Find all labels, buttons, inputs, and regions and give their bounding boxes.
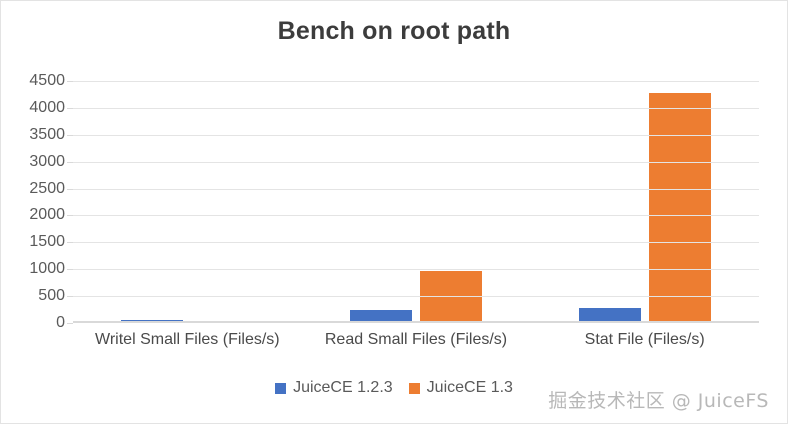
x-axis-tick-label: Read Small Files (Files/s)	[325, 331, 507, 349]
y-axis-tick	[67, 323, 73, 324]
legend-label: JuiceCE 1.3	[427, 379, 513, 397]
bar-group	[73, 81, 302, 323]
x-axis-line	[73, 321, 759, 323]
gridline	[73, 81, 759, 82]
gridline	[73, 269, 759, 270]
gridline	[73, 296, 759, 297]
x-axis-tick-label: Writel Small Files (Files/s)	[95, 331, 280, 349]
y-axis-tick-label: 2000	[29, 206, 65, 224]
chart-title: Bench on root path	[1, 17, 787, 46]
gridline	[73, 135, 759, 136]
y-axis-tick-label: 1500	[29, 233, 65, 251]
y-axis-tick-label: 0	[56, 314, 65, 332]
gridline	[73, 215, 759, 216]
bars-layer	[73, 81, 759, 323]
plot-area	[73, 81, 759, 323]
y-axis-tick-label: 2500	[29, 180, 65, 198]
y-axis-tick-label: 3000	[29, 153, 65, 171]
gridline	[73, 162, 759, 163]
gridline	[73, 189, 759, 190]
legend-swatch-icon	[275, 383, 286, 394]
legend-item[interactable]: JuiceCE 1.3	[409, 379, 513, 397]
gridline	[73, 242, 759, 243]
legend-item[interactable]: JuiceCE 1.2.3	[275, 379, 393, 397]
x-axis-tick-label: Stat File (Files/s)	[585, 331, 705, 349]
y-axis-tick-label: 1000	[29, 260, 65, 278]
y-axis-tick-label: 4500	[29, 72, 65, 90]
bar-group	[530, 81, 759, 323]
legend-swatch-icon	[409, 383, 420, 394]
gridline	[73, 108, 759, 109]
watermark-text: 掘金技术社区 @ JuiceFS	[548, 386, 769, 413]
y-axis-tick-label: 4000	[29, 99, 65, 117]
y-axis: 050010001500200025003000350040004500	[1, 81, 65, 323]
legend-label: JuiceCE 1.2.3	[293, 379, 393, 397]
chart-container: Bench on root path 050010001500200025003…	[0, 0, 788, 424]
bar-group	[302, 81, 531, 323]
bar[interactable]	[649, 93, 711, 323]
y-axis-tick-label: 500	[38, 287, 65, 305]
x-axis-labels: Writel Small Files (Files/s)Read Small F…	[73, 331, 759, 357]
y-axis-tick-label: 3500	[29, 126, 65, 144]
